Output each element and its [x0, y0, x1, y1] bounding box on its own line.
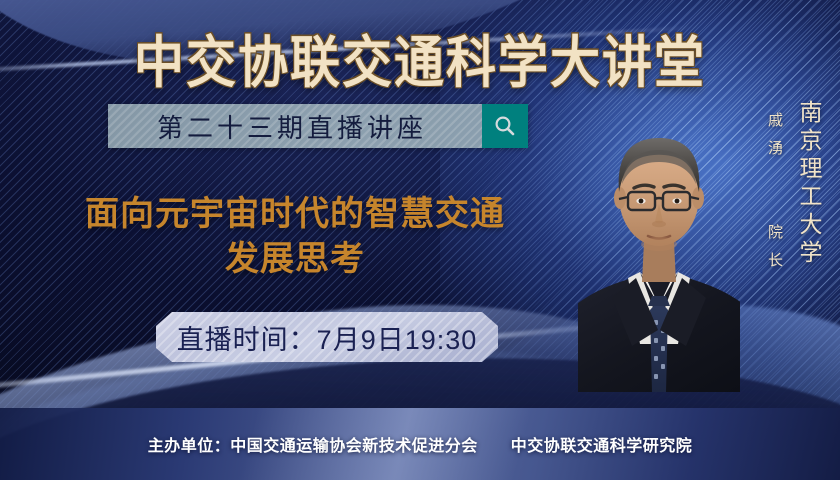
episode-label: 第二十三期直播讲座 — [108, 104, 482, 148]
search-icon — [493, 114, 517, 138]
page-title: 中交协联交通科学大讲堂 — [0, 18, 840, 99]
broadcast-time-text: 直播时间：7月9日19:30 — [177, 318, 478, 357]
headline-line-2: 发展思考 — [30, 237, 560, 282]
episode-banner: 第二十三期直播讲座 — [108, 104, 528, 148]
speaker-portrait — [578, 92, 740, 392]
lecture-headline: 面向元宇宙时代的智慧交通 发展思考 — [30, 192, 560, 282]
speaker-affiliation: 南京理工大学 — [792, 100, 826, 268]
organizers-text: 主办单位：中国交通运输协会新技术促进分会 中交协联交通科学研究院 — [0, 432, 840, 456]
speaker-portrait-image — [578, 92, 740, 392]
headline-line-1: 面向元宇宙时代的智慧交通 — [85, 194, 505, 234]
search-icon-box[interactable] — [482, 104, 528, 148]
speaker-name-title: 戚湧 院长 — [764, 112, 785, 280]
broadcast-time-badge: 直播时间：7月9日19:30 — [156, 312, 498, 362]
webinar-poster: 南京理工大学 戚湧 院长 中交协联交通科学大讲堂 第二十三期直播讲座 面向元宇宙… — [0, 0, 840, 480]
